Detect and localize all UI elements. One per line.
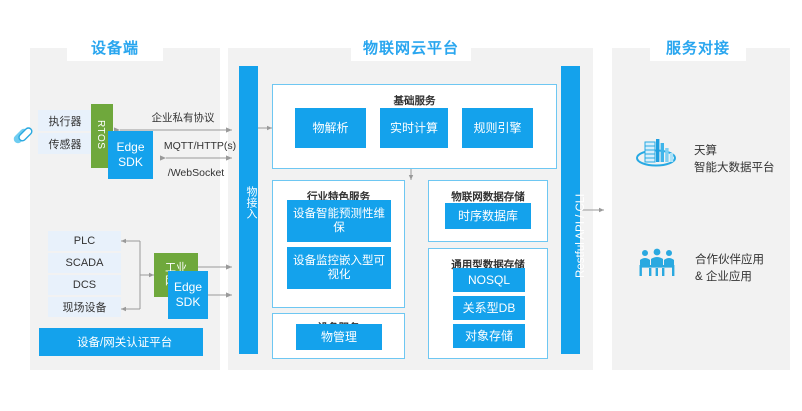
service-item-big-data-platform[interactable]: 天算 智能大数据平台 <box>636 137 786 183</box>
service-item-big-data-platform-line2: 智能大数据平台 <box>694 160 775 177</box>
device-auth-platform-box[interactable]: 设备/网关认证平台 <box>39 328 203 356</box>
device-service-item-thing-management[interactable]: 物管理 <box>296 324 382 350</box>
panel-device-side <box>30 48 220 370</box>
service-item-big-data-platform-line1: 天算 <box>694 143 775 160</box>
base-service-title: 基础服务 <box>273 93 556 108</box>
base-service-item-thing-parsing[interactable]: 物解析 <box>295 108 366 148</box>
label-enterprise-protocol: 企业私有协议 <box>134 110 232 125</box>
general-storage-item-nosql[interactable]: NOSQL <box>453 268 525 292</box>
base-service-item-rule-engine[interactable]: 规则引擎 <box>462 108 533 148</box>
general-storage-item-rdb[interactable]: 关系型DB <box>453 296 525 320</box>
ingest-bar[interactable]: 物接入 <box>239 66 258 354</box>
base-service-item-realtime-compute[interactable]: 实时计算 <box>380 108 448 148</box>
service-item-partner-apps[interactable]: 合作伙伴应用 & 企业应用 <box>637 248 787 290</box>
rtos-label: RTOS <box>94 120 106 149</box>
general-storage-item-object-storage[interactable]: 对象存储 <box>453 324 525 348</box>
device-auth-platform-label: 设备/网关认证平台 <box>77 334 172 350</box>
field-device-onsite[interactable]: 现场设备 <box>48 297 121 317</box>
industry-service-item-device-monitoring[interactable]: 设备监控嵌入型可视化 <box>287 247 391 289</box>
edge-sdk-bottom-box[interactable]: Edge SDK <box>168 271 208 319</box>
api-cli-bar[interactable]: Restful API / CLI <box>561 66 580 354</box>
panel-title-device-side: 设备端 <box>67 33 163 61</box>
iot-data-storage-title: 物联网数据存储 <box>429 189 547 204</box>
panel-title-iot-platform: 物联网云平台 <box>351 33 471 61</box>
panel-title-service-integration: 服务对接 <box>650 33 746 61</box>
ingest-bar-label: 物接入 <box>239 186 258 219</box>
iot-data-storage-item-tsdb[interactable]: 时序数据库 <box>445 203 531 229</box>
api-cli-bar-label: Restful API / CLI <box>575 194 587 278</box>
device-endpoint-sensor[interactable]: 传感器 <box>38 133 92 154</box>
field-device-scada[interactable]: SCADA <box>48 253 121 273</box>
field-device-dcs[interactable]: DCS <box>48 275 121 295</box>
diagram-canvas: 设备端 物联网云平台 服务对接 <box>0 0 802 411</box>
service-item-partner-apps-text: 合作伙伴应用 & 企业应用 <box>695 252 764 287</box>
service-item-partner-apps-line2: & 企业应用 <box>695 269 764 286</box>
edge-sdk-top-box[interactable]: Edge SDK <box>108 131 153 179</box>
field-device-plc[interactable]: PLC <box>48 231 121 251</box>
service-item-partner-apps-line1: 合作伙伴应用 <box>695 252 764 269</box>
label-websocket: /WebSocket <box>156 167 236 179</box>
label-mqtt-http: MQTT/HTTP(s) <box>160 140 240 152</box>
device-endpoint-actuator[interactable]: 执行器 <box>38 110 92 131</box>
panel-service-integration <box>612 48 790 370</box>
industry-service-item-predictive-maintenance[interactable]: 设备智能预测性维保 <box>287 200 391 242</box>
service-item-big-data-platform-text: 天算 智能大数据平台 <box>694 143 775 178</box>
